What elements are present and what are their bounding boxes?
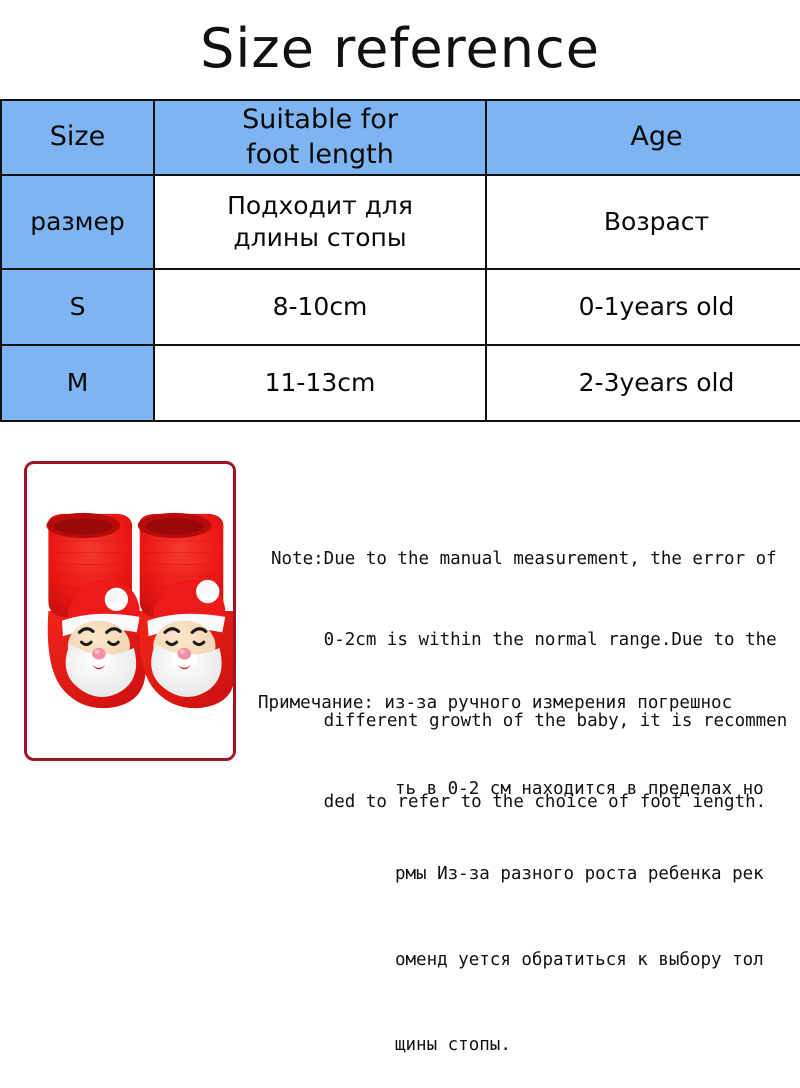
cell-size-s: S bbox=[1, 269, 154, 345]
cell-foot-length-s: 8-10cm bbox=[154, 269, 486, 345]
header-cell-size-ru: размер bbox=[1, 175, 154, 269]
page-title: Size reference bbox=[0, 16, 800, 82]
note-russian-line: щины стопы. bbox=[258, 1031, 764, 1060]
note-english-line: Note:Due to the manual measurement, the … bbox=[271, 546, 787, 573]
size-reference-table: Size Suitable for foot length Age размер… bbox=[0, 99, 800, 422]
header-cell-foot-length-ru: Подходит для длины стопы bbox=[154, 175, 486, 269]
note-russian-line: ть в 0-2 см находится в пределах но bbox=[258, 775, 764, 804]
sock-right bbox=[138, 513, 233, 708]
header-cell-age: Age bbox=[486, 100, 800, 175]
cell-foot-length-m: 11-13cm bbox=[154, 345, 486, 421]
product-image-frame bbox=[24, 461, 236, 761]
santa-socks-photo bbox=[27, 464, 233, 758]
cell-size-m: M bbox=[1, 345, 154, 421]
cell-age-s: 0-1years old bbox=[486, 269, 800, 345]
header-cell-age-ru: Возраст bbox=[486, 175, 800, 269]
header-cell-foot-length: Suitable for foot length bbox=[154, 100, 486, 175]
note-russian-line: рмы Из-за разного роста ребенка рек bbox=[258, 860, 764, 889]
note-russian-line: оменд уется обратиться к выбору тол bbox=[258, 946, 764, 975]
header-cell-foot-length-ru-line1: Подходит для bbox=[159, 190, 481, 222]
table-header-row-ru: размер Подходит для длины стопы Возраст bbox=[1, 175, 800, 269]
header-cell-foot-length-line2: foot length bbox=[159, 138, 481, 173]
header-cell-foot-length-line1: Suitable for bbox=[159, 103, 481, 138]
cell-age-m: 2-3years old bbox=[486, 345, 800, 421]
note-russian-line: Примечание: из-за ручного измерения погр… bbox=[258, 689, 764, 718]
note-russian: Примечание: из-за ручного измерения погр… bbox=[258, 632, 764, 1088]
table-row: S 8-10cm 0-1years old bbox=[1, 269, 800, 345]
header-cell-size: Size bbox=[1, 100, 154, 175]
table-header-row-en: Size Suitable for foot length Age bbox=[1, 100, 800, 175]
table-row: M 11-13cm 2-3years old bbox=[1, 345, 800, 421]
header-cell-foot-length-ru-line2: длины стопы bbox=[159, 222, 481, 254]
